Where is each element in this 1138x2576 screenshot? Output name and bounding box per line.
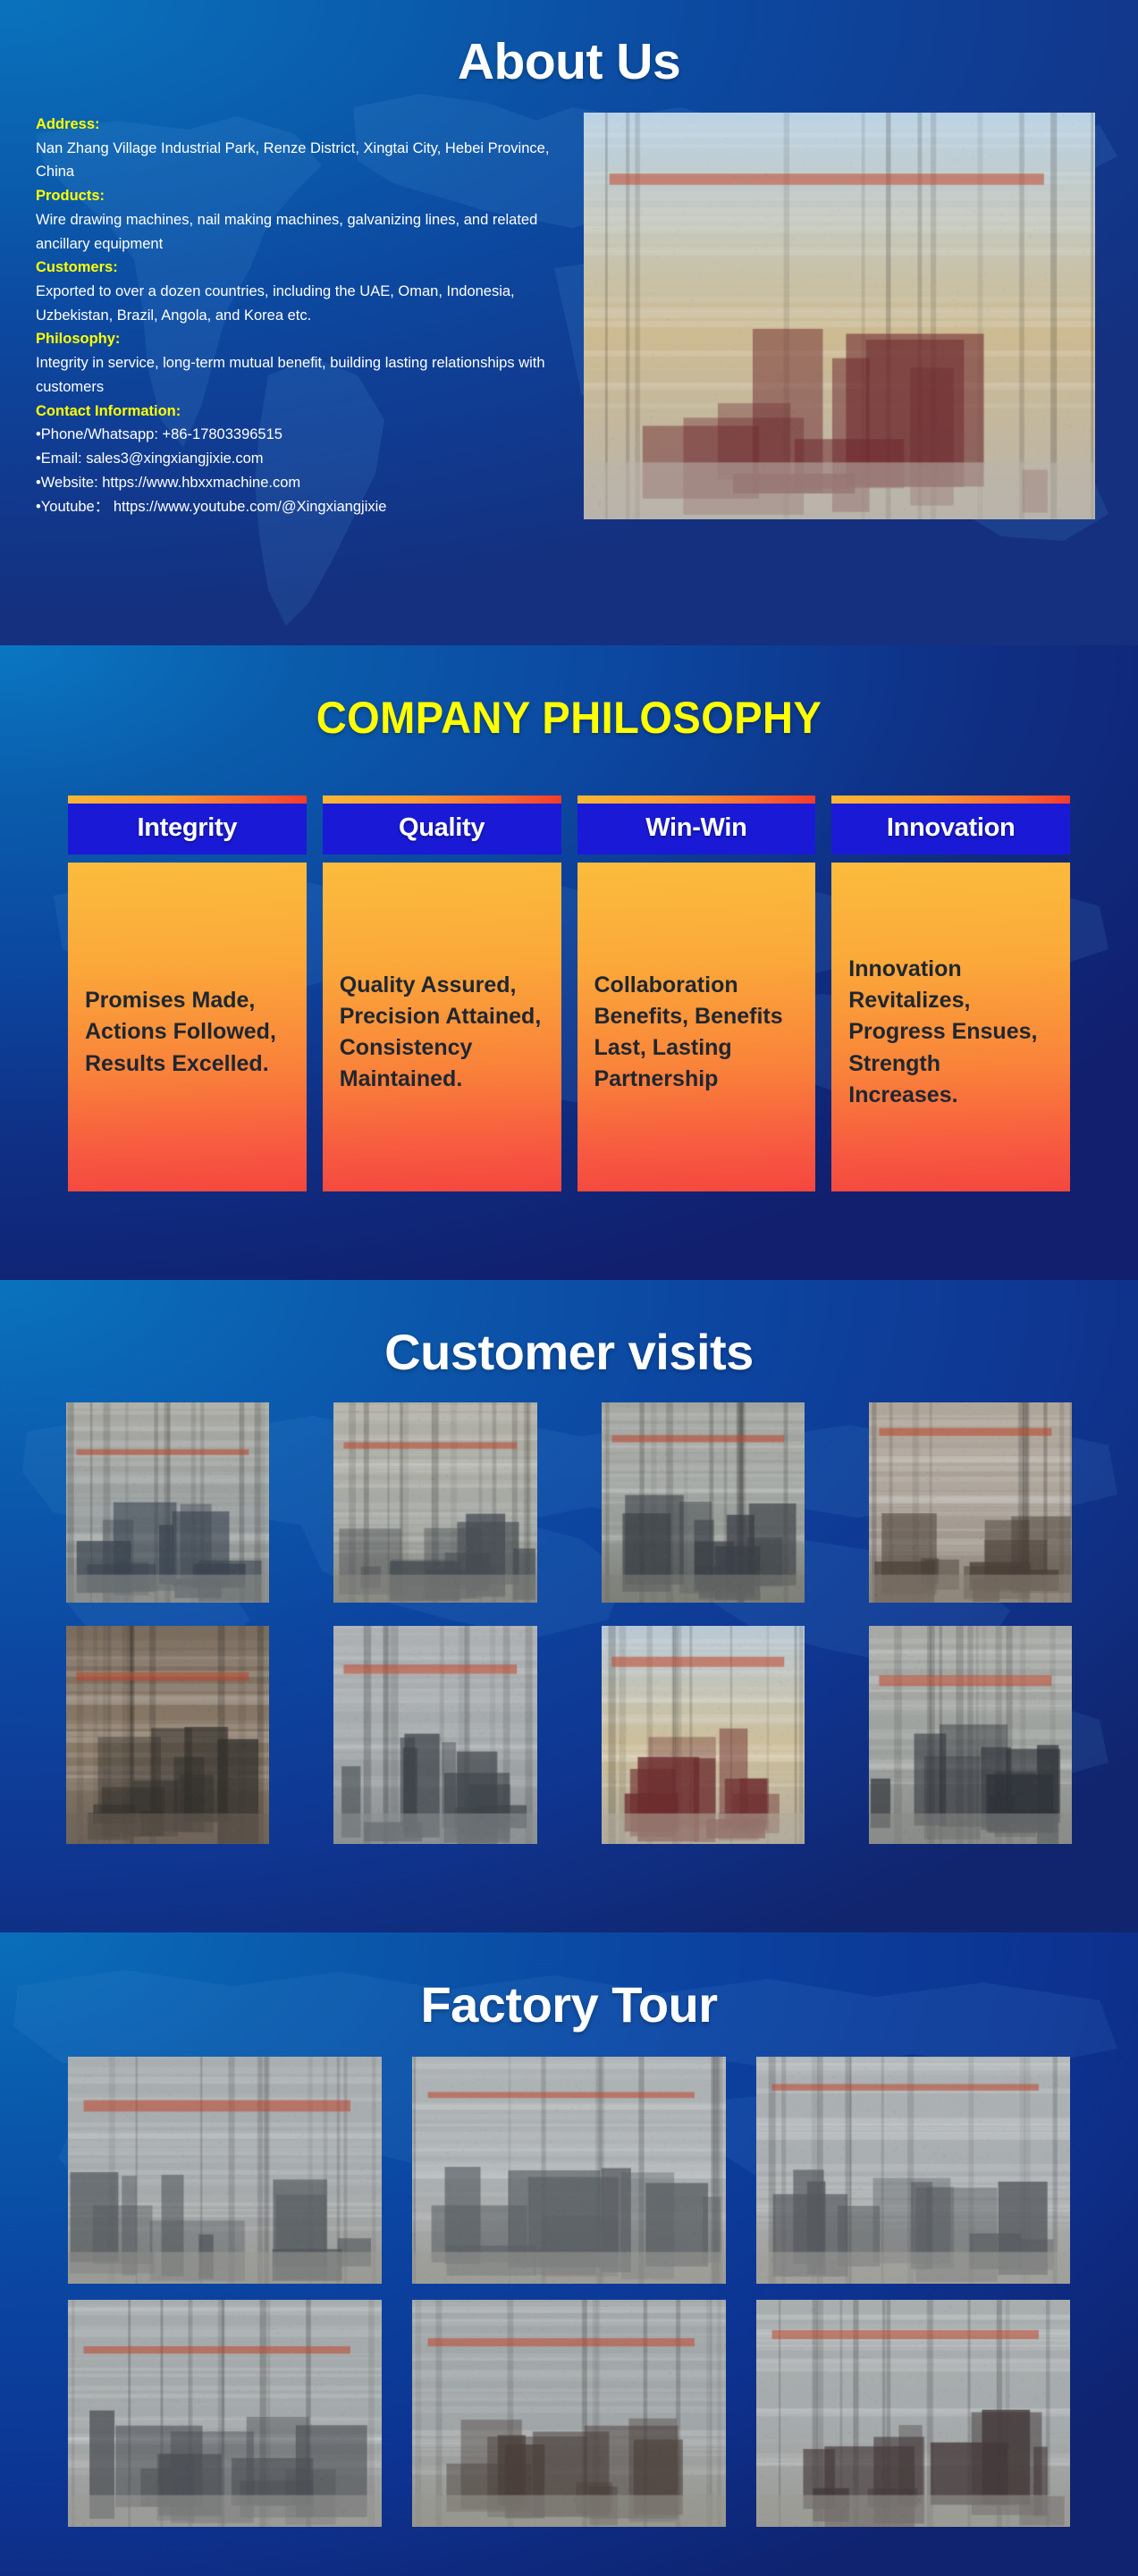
visit-photo	[333, 1626, 536, 1844]
factory-photo	[756, 2057, 1070, 2284]
contact-phone[interactable]: •Phone/Whatsapp: +86-17803396515	[36, 423, 559, 447]
card-accent-strip	[577, 796, 816, 804]
factory-photo	[412, 2300, 726, 2527]
factory-tour-title: Factory Tour	[0, 1932, 1138, 2033]
visit-photo	[66, 1626, 269, 1844]
about-label-products: Products:	[36, 188, 105, 204]
card-title: Win-Win	[577, 804, 816, 854]
contact-website[interactable]: •Website: https://www.hbxxmachine.com	[36, 471, 559, 495]
factory-tour-grid	[0, 2033, 1138, 2527]
card-title: Integrity	[68, 804, 307, 854]
customer-visits-section: Customer visits	[0, 1280, 1138, 1932]
about-value-customers: Exported to over a dozen countries, incl…	[36, 280, 559, 327]
factory-photo	[68, 2057, 382, 2284]
philosophy-title: COMPANY PHILOSOPHY	[34, 645, 1104, 744]
visit-photo	[602, 1626, 805, 1844]
visit-photo	[869, 1626, 1072, 1844]
philosophy-card-innovation[interactable]: Innovation Innovation Revitalizes, Progr…	[831, 796, 1070, 1191]
page-title: About Us	[0, 0, 1138, 91]
visit-photo	[602, 1402, 805, 1603]
philosophy-card-integrity[interactable]: Integrity Promises Made, Actions Followe…	[68, 796, 307, 1191]
card-body: Innovation Revitalizes, Progress Ensues,…	[831, 863, 1070, 1191]
about-us-section: About Us Address: Nan Zhang Village Indu…	[0, 0, 1138, 645]
card-accent-strip	[68, 796, 307, 804]
customer-visits-grid	[0, 1381, 1138, 1844]
about-value-address: Nan Zhang Village Industrial Park, Renze…	[36, 137, 559, 184]
visit-photo	[333, 1402, 536, 1603]
about-text-block: Address: Nan Zhang Village Industrial Pa…	[36, 113, 559, 519]
visit-photo	[66, 1402, 269, 1603]
philosophy-card-win-win[interactable]: Win-Win Collaboration Benefits, Benefits…	[577, 796, 816, 1191]
card-body: Collaboration Benefits, Benefits Last, L…	[577, 863, 816, 1191]
card-accent-strip	[323, 796, 561, 804]
customer-visits-title: Customer visits	[0, 1280, 1138, 1381]
contact-youtube[interactable]: •Youtube： https://www.youtube.com/@Xingx…	[36, 495, 559, 519]
card-body: Quality Assured, Precision Attained, Con…	[323, 863, 561, 1191]
visit-photo	[869, 1402, 1072, 1603]
about-label-contact: Contact Information:	[36, 403, 181, 419]
about-label-address: Address:	[36, 116, 100, 132]
about-label-customers: Customers:	[36, 259, 118, 275]
philosophy-cards: Integrity Promises Made, Actions Followe…	[0, 744, 1138, 1191]
about-body: Address: Nan Zhang Village Industrial Pa…	[0, 91, 1138, 519]
factory-photo	[756, 2300, 1070, 2527]
about-value-products: Wire drawing machines, nail making machi…	[36, 208, 559, 256]
factory-photo	[412, 2057, 726, 2284]
about-value-philosophy: Integrity in service, long-term mutual b…	[36, 351, 559, 399]
about-photo-wrapper	[584, 113, 1095, 519]
factory-gate-photo	[584, 113, 1095, 519]
philosophy-card-quality[interactable]: Quality Quality Assured, Precision Attai…	[323, 796, 561, 1191]
about-label-philosophy: Philosophy:	[36, 331, 120, 347]
factory-tour-section: Factory Tour	[0, 1932, 1138, 2576]
factory-photo	[68, 2300, 382, 2527]
company-philosophy-section: COMPANY PHILOSOPHY Integrity Promises Ma…	[0, 645, 1138, 1280]
card-title: Quality	[323, 804, 561, 854]
card-body: Promises Made, Actions Followed, Results…	[68, 863, 307, 1191]
card-accent-strip	[831, 796, 1070, 804]
card-title: Innovation	[831, 804, 1070, 854]
contact-email[interactable]: •Email: sales3@xingxiangjixie.com	[36, 447, 559, 471]
